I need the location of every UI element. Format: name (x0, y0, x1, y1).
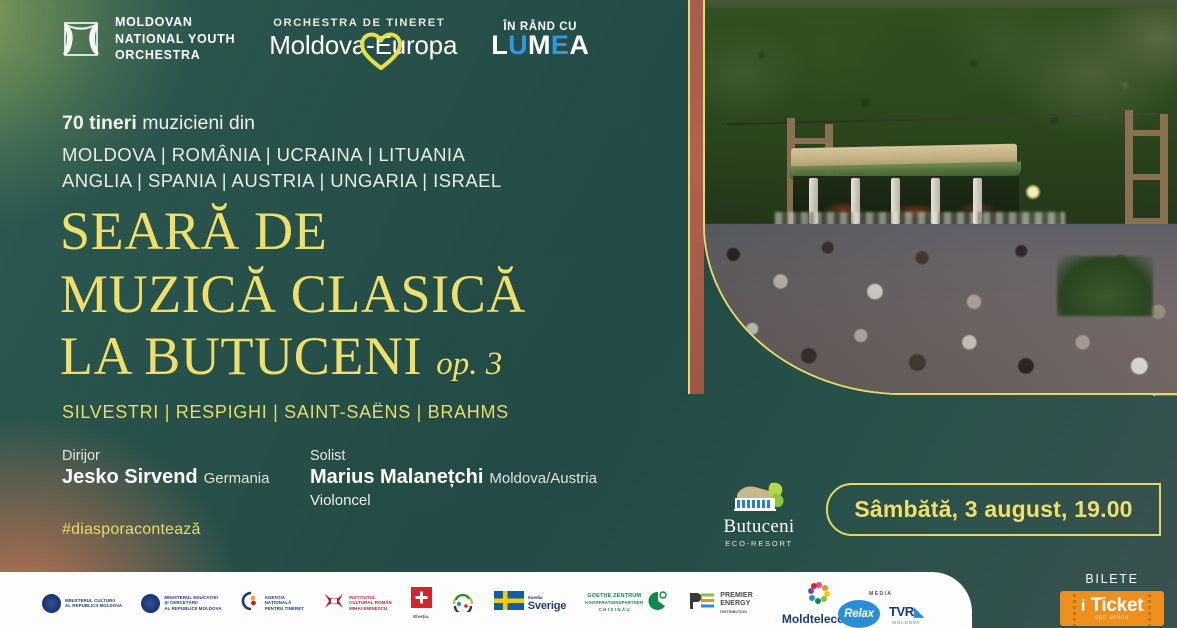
ant-circle-icon (241, 591, 261, 616)
moldtelecom-flower-icon (807, 581, 831, 610)
sponsor-label: PREMIER ENERGY DISTRIBUTION (720, 592, 753, 615)
lumea-wordmark: LUMEA (491, 33, 589, 58)
sponsor-ministry-of-education: MINISTERUL EDUCAȚIEI ȘI CERCETĂRII AL RE… (141, 594, 221, 613)
soloist-line: Marius MalanețchiMoldova/Austria (310, 466, 597, 489)
logo-in-rand-cu-lumea: ÎN RÂND CU LUMEA (491, 21, 589, 58)
sponsor-label: GOETHE ZENTRUM KOOPERATIONSPARTNER C H I… (585, 593, 643, 613)
musician-count-number: 70 tineri (62, 112, 137, 134)
campaign-hashtag: #diasporacontează (62, 521, 201, 539)
composers-list: SILVESTRI | RESPIGHI | SAINT-SAËNS | BRA… (62, 402, 509, 423)
sponsor-ministry-of-culture: MINISTERUL CULTURII AL REPUBLICII MOLDOV… (42, 594, 122, 613)
concert-poster: MOLDOVAN NATIONAL YOUTH ORCHESTRA ORCHES… (0, 0, 1177, 628)
event-date-badge: Sâmbătă, 3 august, 19.00 (826, 483, 1161, 536)
yellow-heart-icon (359, 31, 403, 76)
mnyo-line-1: MOLDOVAN (115, 14, 235, 31)
sponsor-line-2: Sverige (528, 600, 566, 612)
iticket-logo-button[interactable]: i Ticket opți online (1060, 591, 1164, 626)
concert-photo-artwork (705, 0, 1177, 393)
tickets-block[interactable]: BILETE i Ticket opți online (1060, 572, 1164, 626)
sweden-flag-icon (494, 591, 524, 615)
media-partners: MEDIA Relax TVR◣ MOLDOVA (838, 591, 923, 628)
sponsor-line-2: CULTURAL ROMÂN (349, 600, 392, 606)
media-outlets: Relax TVR◣ MOLDOVA (838, 600, 923, 628)
sponsor-label: MINISTERUL EDUCAȚIEI ȘI CERCETĂRII AL RE… (164, 595, 221, 612)
sponsor-sdc (451, 590, 475, 617)
soloist-role: Solist (310, 448, 597, 464)
soloist-country: Moldova/Austria (489, 470, 597, 487)
butuceni-eco-resort-icon (725, 479, 793, 515)
goethe-zentrum-icon (647, 590, 669, 617)
credit-conductor: Dirijor Jesko SirvendGermania (62, 448, 310, 509)
sponsor-label: AGENȚIA NAȚIONALĂ PENTRU TINERET (265, 595, 304, 612)
iticket-wordmark: i Ticket (1066, 595, 1158, 617)
sponsor-switzerland: Elveția. (411, 587, 432, 620)
iticket-i: i (1081, 596, 1086, 616)
iticket-name: Ticket (1090, 595, 1143, 617)
tvr-name: TVR (889, 604, 914, 619)
media-label: MEDIA (838, 591, 923, 597)
mnyo-line-2: NATIONAL YOUTH (115, 31, 235, 48)
sponsor-label: INSTITUTUL CULTURAL ROMÂN MIHAI EMINESCU (349, 595, 392, 612)
sponsor-logos: MINISTERUL CULTURII AL REPUBLICII MOLDOV… (42, 572, 942, 628)
countries-line-1: MOLDOVA | ROMÂNIA | UCRAINA | LITUANIA (62, 142, 502, 168)
conductor-country: Germania (204, 470, 270, 487)
sponsor-line-3: C H I Ș I N Ă U (585, 607, 643, 613)
partner-logos-row: MOLDOVAN NATIONAL YOUTH ORCHESTRA ORCHES… (58, 14, 589, 64)
sponsor-line-3: DISTRIBUTION (720, 610, 753, 614)
sponsor-line-1: PREMIER (720, 592, 753, 601)
countries-line-2: ANGLIA | SPANIA | AUSTRIA | UNGARIA | IS… (62, 168, 502, 194)
mnyo-wordmark: MOLDOVAN NATIONAL YOUTH ORCHESTRA (115, 14, 235, 64)
moldova-state-seal-icon (42, 594, 61, 613)
butuceni-subtitle: ECO-RESORT (715, 539, 803, 548)
lumea-letter-m: M (528, 30, 551, 60)
photo-vignette (705, 0, 1177, 393)
relax-fm-icon: Relax (838, 600, 880, 628)
sponsor-line-2: KOOPERATIONSPARTNER (585, 600, 643, 606)
title-opus: op. 3 (436, 346, 502, 382)
soloist-instrument: Violoncel (310, 492, 597, 509)
sponsor-sweden: Suedia Sverige (494, 591, 566, 615)
sponsor-line-2: ENERGY (720, 600, 753, 609)
musician-count-line: 70 tineri muzicieni din (62, 112, 255, 135)
sponsor-label: Suedia Sverige (528, 595, 566, 612)
sponsor-line-3: PENTRU TINERET (265, 606, 304, 612)
sdc-swirl-icon (451, 590, 475, 617)
tvr-moldova-icon: TVR◣ MOLDOVA (889, 604, 923, 625)
sponsor-line-3: MIHAI EMINESCU (349, 606, 392, 612)
title-line-3: LA BUTUCENI (60, 326, 422, 386)
swiss-flag-icon (411, 587, 432, 613)
conductor-line: Jesko SirvendGermania (62, 466, 310, 489)
tvr-wordmark: TVR◣ (889, 604, 923, 620)
sponsors-footer: MINISTERUL CULTURII AL REPUBLICII MOLDOV… (0, 572, 972, 628)
sponsor-goethe-zentrum: GOETHE ZENTRUM KOOPERATIONSPARTNER C H I… (585, 590, 669, 617)
concert-photo (703, 0, 1177, 395)
musician-count-rest: muzicieni din (137, 112, 255, 134)
icr-cross-icon (323, 591, 345, 616)
moldova-europa-kicker: ORCHESTRA DE TINERET (273, 17, 457, 29)
sponsor-institutul-cultural-roman: INSTITUTUL CULTURAL ROMÂN MIHAI EMINESCU (323, 591, 392, 616)
sponsor-line-2: AL REPUBLICII MOLDOVA (65, 603, 122, 609)
tickets-label: BILETE (1060, 572, 1164, 586)
title-line-2: MUZICĂ CLASICĂ (60, 263, 526, 326)
conductor-name: Jesko Sirvend (62, 466, 198, 488)
photo-left-red-band (690, 0, 704, 394)
lumea-letter-e: E (551, 30, 569, 60)
lumea-letter-u: U (508, 30, 528, 60)
title-line-3-wrap: LA BUTUCENI op. 3 (60, 325, 526, 388)
performers-credits: Dirijor Jesko SirvendGermania Solist Mar… (62, 448, 597, 509)
title-line-1: SEARĂ DE (60, 200, 526, 263)
soloist-name: Marius Malanețchi (310, 466, 483, 488)
moldova-europa-left: Moldova (269, 30, 366, 60)
lumea-letter-l: L (491, 30, 508, 60)
event-date-text: Sâmbătă, 3 august, 19.00 (854, 496, 1132, 523)
butuceni-name: Butuceni (715, 516, 803, 538)
moldova-state-seal-icon (141, 594, 160, 613)
sponsor-line-1: GOETHE ZENTRUM (585, 593, 643, 600)
logo-moldova-europa: ORCHESTRA DE TINERET Moldova-Europa (269, 17, 457, 61)
sponsor-label: MINISTERUL CULTURII AL REPUBLICII MOLDOV… (65, 598, 122, 609)
premier-energy-icon (688, 591, 716, 616)
conductor-role: Dirijor (62, 448, 310, 464)
sponsor-premier-energy: PREMIER ENERGY DISTRIBUTION (688, 591, 753, 616)
logo-moldovan-national-youth-orchestra: MOLDOVAN NATIONAL YOUTH ORCHESTRA (58, 14, 235, 64)
poster-title: SEARĂ DE MUZICĂ CLASICĂ LA BUTUCENI op. … (60, 200, 526, 388)
logo-butuceni-eco-resort: Butuceni ECO-RESORT (715, 479, 803, 548)
countries-list: MOLDOVA | ROMÂNIA | UCRAINA | LITUANIA A… (62, 142, 502, 195)
sponsor-agentia-nationala-pentru-tineret: AGENȚIA NAȚIONALĂ PENTRU TINERET (241, 591, 304, 616)
sponsor-line-1: Elveția. (413, 614, 429, 620)
sponsor-line-3: AL REPUBLICII MOLDOVA (164, 606, 221, 612)
tvr-subtitle: MOLDOVA (889, 620, 923, 625)
photo-left-yellow-line (688, 0, 690, 394)
credit-soloist: Solist Marius MalanețchiMoldova/Austria … (310, 448, 597, 509)
mnyo-line-3: ORCHESTRA (115, 47, 235, 64)
mnyo-square-ribbon-mark-icon (58, 16, 104, 62)
lumea-letter-a: A (569, 30, 589, 60)
